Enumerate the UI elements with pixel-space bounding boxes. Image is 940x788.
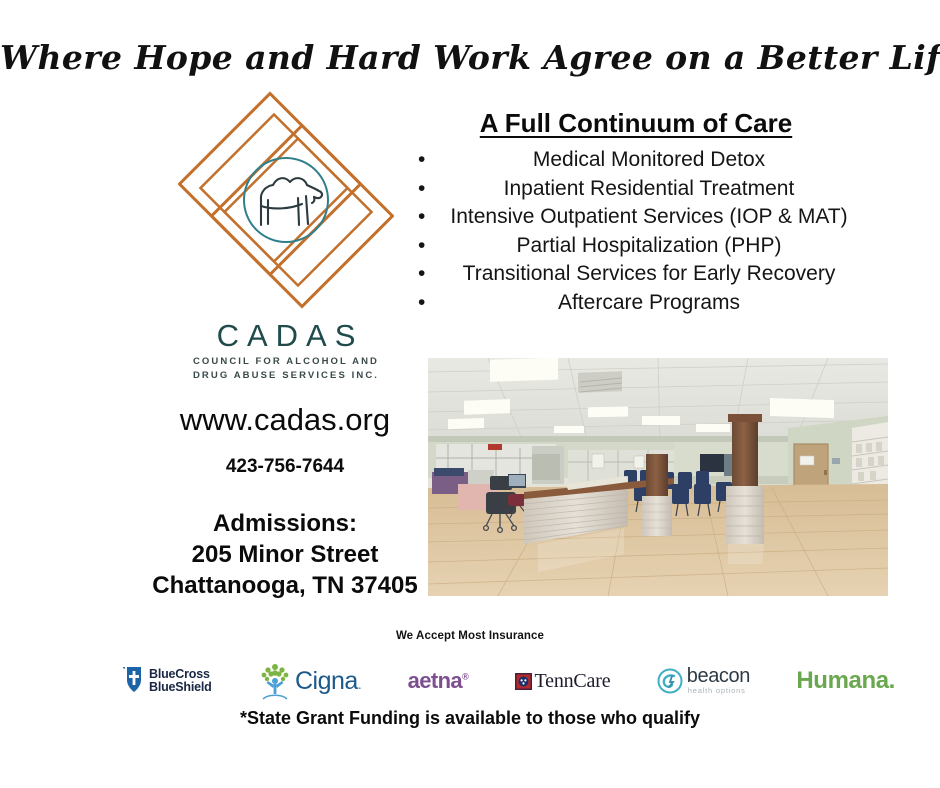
bcbs-line-2: BlueShield — [149, 681, 212, 694]
address-line-2: Chattanooga, TN 37405 — [120, 570, 450, 601]
care-title: A Full Continuum of Care — [406, 108, 866, 139]
insurance-logos-row: BlueCross BlueShield Cigna. — [120, 658, 895, 704]
bullet-icon: • — [418, 146, 425, 175]
list-item: • Partial Hospitalization (PHP) — [406, 232, 866, 261]
brand-tagline-line1: COUNCIL FOR ALCOHOL AND — [168, 355, 404, 369]
humana-logo: Humana. — [796, 659, 895, 703]
cigna-logo: Cigna. — [258, 659, 361, 703]
shield-icon — [120, 666, 144, 696]
list-item: • Medical Monitored Detox — [406, 146, 866, 175]
list-item-label: Medical Monitored Detox — [533, 148, 765, 171]
beacon-sublabel: health options — [688, 686, 750, 696]
tenncare-label: TennCare — [535, 670, 611, 693]
list-item-label: Intensive Outpatient Services (IOP & MAT… — [450, 205, 847, 228]
list-item: • Aftercare Programs — [406, 289, 866, 318]
tenncare-logo: TennCare — [515, 659, 611, 703]
beacon-logo: beacon health options — [657, 659, 750, 703]
facility-photo — [428, 358, 888, 596]
insurance-heading: We Accept Most Insurance — [0, 630, 940, 642]
list-item-label: Partial Hospitalization (PHP) — [517, 234, 782, 257]
admissions-block: Admissions: 205 Minor Street Chattanooga… — [120, 508, 450, 601]
facility-photo-illustration — [428, 358, 888, 596]
funding-footnote: *State Grant Funding is available to tho… — [0, 708, 940, 729]
cigna-tree-icon — [258, 661, 292, 701]
list-item: • Inpatient Residential Treatment — [406, 175, 866, 204]
tennessee-flag-icon — [515, 673, 532, 690]
bullet-icon: • — [418, 203, 425, 232]
brand-tagline-line2: DRUG ABUSE SERVICES INC. — [168, 369, 404, 383]
brand-name: CADAS — [178, 318, 394, 354]
list-item-label: Transitional Services for Early Recovery — [463, 262, 836, 285]
care-service-list: • Medical Monitored Detox • Inpatient Re… — [406, 146, 866, 317]
cigna-label: Cigna. — [295, 667, 361, 696]
bullet-icon: • — [418, 289, 425, 318]
admissions-label: Admissions: — [120, 508, 450, 539]
aetna-label: aetna® — [408, 668, 469, 694]
beacon-circle-icon — [657, 668, 683, 694]
list-item-label: Aftercare Programs — [558, 291, 740, 314]
continuum-of-care-block: A Full Continuum of Care • Medical Monit… — [406, 108, 866, 317]
beacon-label-block: beacon health options — [683, 667, 750, 696]
bullet-icon: • — [418, 260, 425, 289]
aetna-logo: aetna® — [408, 659, 469, 703]
bullet-icon: • — [418, 175, 425, 204]
website-url[interactable]: www.cadas.org — [130, 402, 440, 438]
humana-label: Humana. — [796, 667, 895, 695]
address-line-1: 205 Minor Street — [120, 539, 450, 570]
page-headline: Where Hope and Hard Work Agree on a Bett… — [0, 38, 940, 77]
cadas-logo — [178, 88, 394, 320]
bluecross-blueshield-logo: BlueCross BlueShield — [120, 659, 212, 703]
bullet-icon: • — [418, 232, 425, 261]
brand-tagline: COUNCIL FOR ALCOHOL AND DRUG ABUSE SERVI… — [168, 355, 404, 383]
beacon-label: beacon — [687, 667, 750, 686]
phone-number[interactable]: 423-756-7644 — [130, 456, 440, 478]
list-item: • Transitional Services for Early Recove… — [406, 260, 866, 289]
list-item: • Intensive Outpatient Services (IOP & M… — [406, 203, 866, 232]
logo-mark-icon — [178, 88, 394, 320]
bluecross-blueshield-label: BlueCross BlueShield — [149, 668, 212, 694]
list-item-label: Inpatient Residential Treatment — [504, 177, 795, 200]
